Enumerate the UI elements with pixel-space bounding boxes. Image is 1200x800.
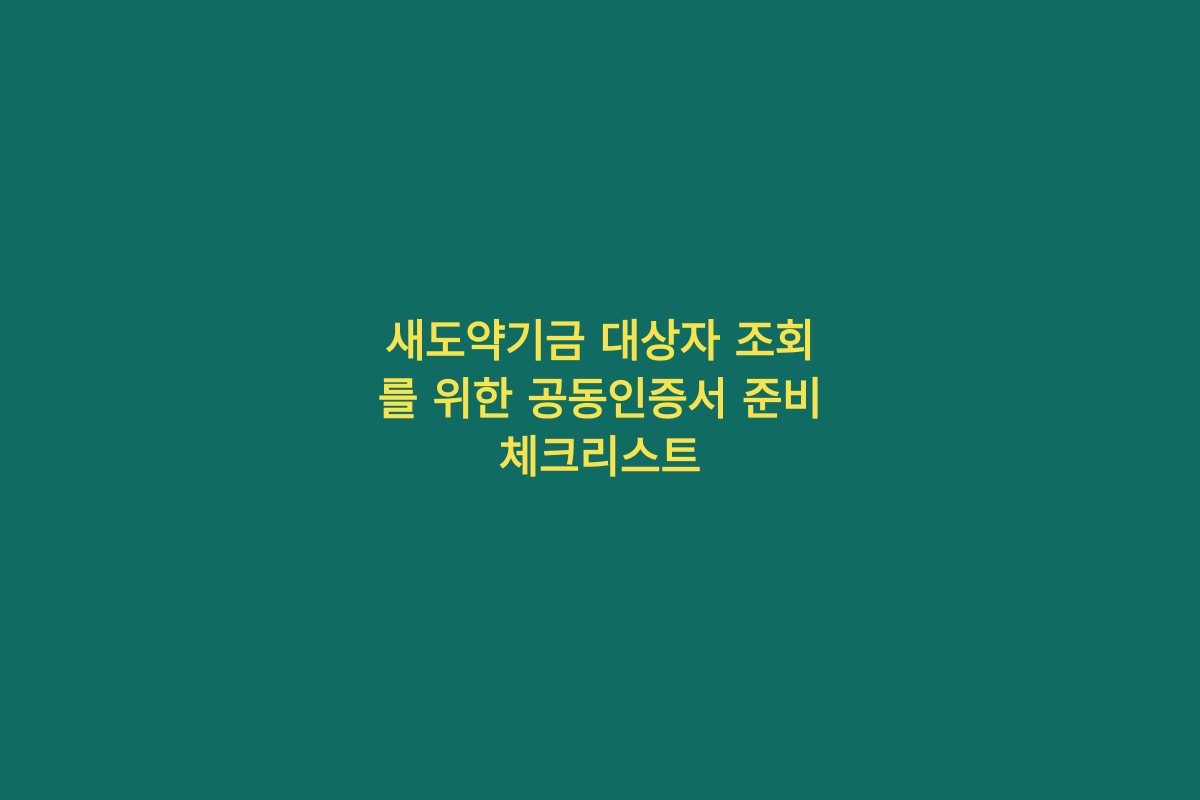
headline-line-3: 체크리스트 (85, 429, 1115, 487)
headline-line-1: 새도약기금 대상자 조회 (85, 313, 1115, 371)
headline-line-2: 를 위한 공동인증서 준비 (85, 371, 1115, 429)
text-banner: 새도약기금 대상자 조회 를 위한 공동인증서 준비 체크리스트 (0, 0, 1200, 800)
page-title: 새도약기금 대상자 조회 를 위한 공동인증서 준비 체크리스트 (85, 313, 1115, 487)
